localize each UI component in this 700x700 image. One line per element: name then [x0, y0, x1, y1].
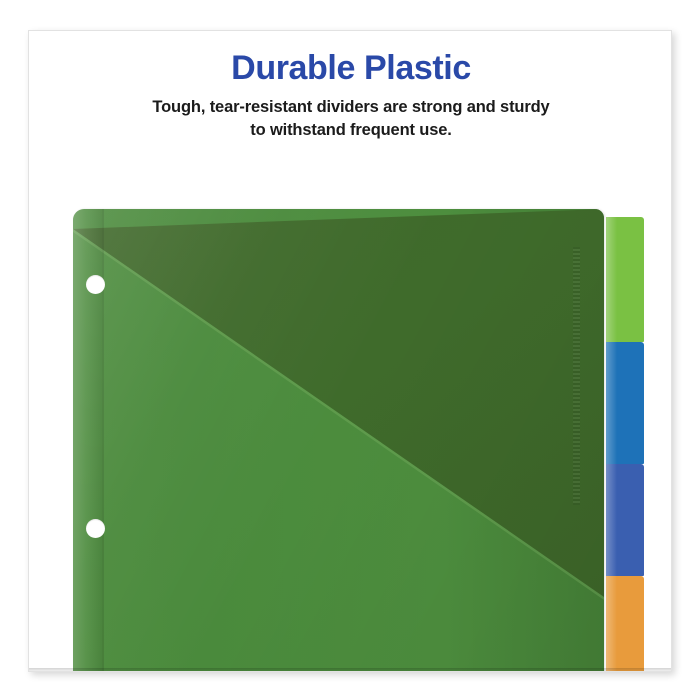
subtitle-line-2: to withstand frequent use. [43, 119, 659, 142]
divider-tab-stack [606, 151, 644, 672]
product-photo [29, 151, 672, 672]
tab-orange [606, 576, 644, 672]
product-feature-card: Durable Plastic Tough, tear-resistant di… [28, 30, 672, 672]
punch-hole-bottom [86, 519, 105, 538]
green-plastic-divider-sheet [73, 209, 604, 672]
tab-royal-blue [606, 464, 644, 576]
tab-blue [606, 342, 644, 464]
embossed-rib-strip [573, 247, 580, 505]
headline-block: Durable Plastic Tough, tear-resistant di… [29, 49, 672, 142]
tab-lime-green [606, 217, 644, 342]
surface-shadow [29, 668, 672, 672]
punch-hole-top [86, 275, 105, 294]
product-image-canvas: Durable Plastic Tough, tear-resistant di… [0, 0, 700, 700]
subtitle: Tough, tear-resistant dividers are stron… [43, 96, 659, 142]
subtitle-line-1: Tough, tear-resistant dividers are stron… [152, 98, 549, 116]
page-title: Durable Plastic [43, 49, 659, 87]
